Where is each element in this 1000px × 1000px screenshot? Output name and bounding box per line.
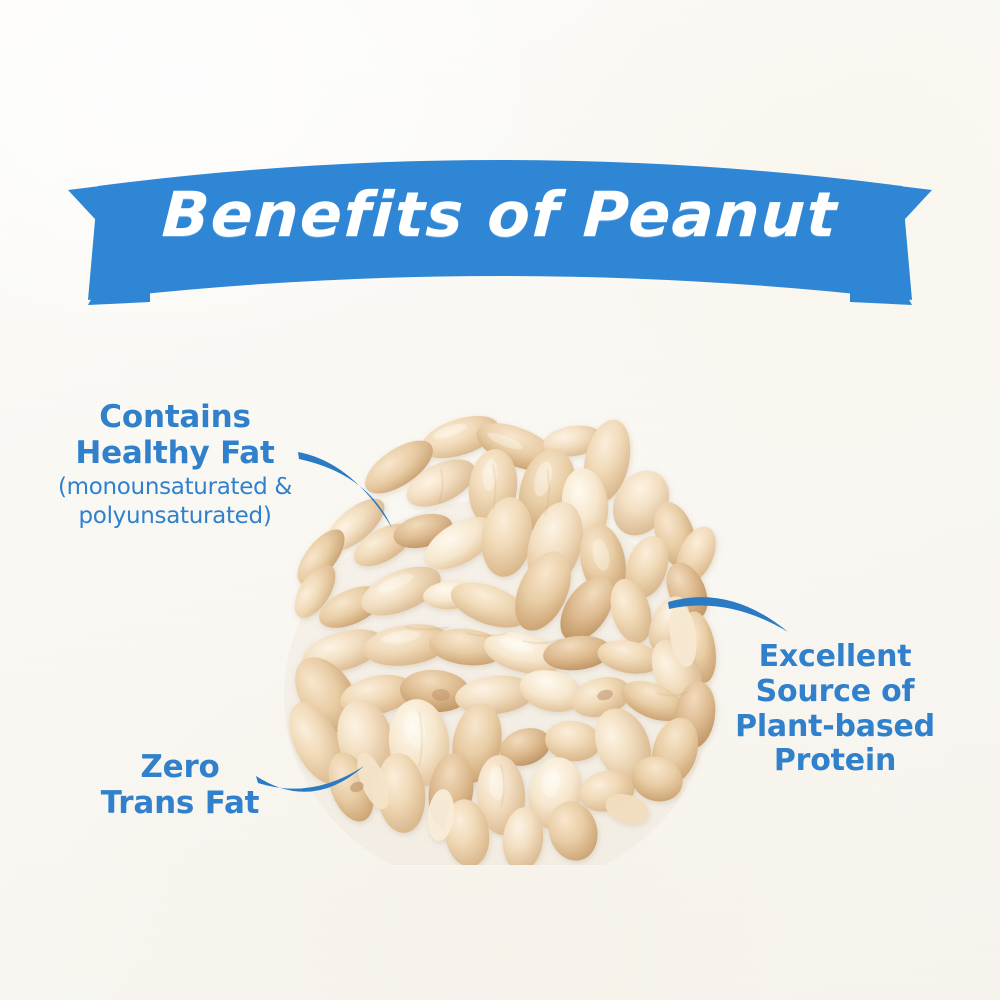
callout-trans-fat: Zero Trans Fat xyxy=(70,750,290,822)
callout-protein-line4: Protein xyxy=(700,744,970,779)
callout-protein-line3: Plant-based xyxy=(700,710,970,745)
callout-healthy-fat: Contains Healthy Fat (monounsaturated & … xyxy=(30,400,320,529)
callout-protein-line2: Source of xyxy=(700,675,970,710)
callout-trans-fat-line2: Trans Fat xyxy=(70,786,290,822)
infographic-canvas: Benefits of Peanut Contains Healthy Fat … xyxy=(0,0,1000,1000)
callout-healthy-fat-sub1: (monounsaturated & xyxy=(30,474,320,501)
callout-healthy-fat-line2: Healthy Fat xyxy=(30,436,320,472)
callout-healthy-fat-sub2: polyunsaturated) xyxy=(30,503,320,530)
banner-title-text: Benefits of Peanut xyxy=(0,178,1000,251)
callout-trans-fat-line1: Zero xyxy=(70,750,290,786)
peanut-pile-svg xyxy=(255,395,735,865)
peanut-pile-image xyxy=(255,395,735,865)
callout-protein-line1: Excellent xyxy=(700,640,970,675)
callout-healthy-fat-line1: Contains xyxy=(30,400,320,436)
callout-protein: Excellent Source of Plant-based Protein xyxy=(700,640,970,779)
